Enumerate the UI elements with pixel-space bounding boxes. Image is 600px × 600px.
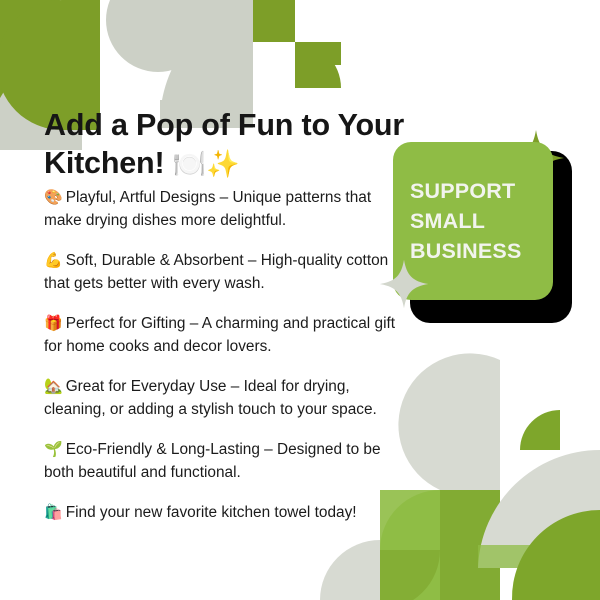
gray-circle-top-center: [106, 0, 210, 72]
green-tint-strip: [478, 545, 600, 568]
gray-big-disc-right: [478, 450, 600, 568]
list-item: 💪Soft, Durable & Absorbent – High-qualit…: [44, 250, 410, 295]
green-curve-mid: [380, 550, 440, 600]
gray-disc-right-upper: [398, 353, 500, 490]
list-item-text: Eco-Friendly & Long-Lasting – Designed t…: [44, 441, 381, 481]
artist-palette-emoji-icon: 🎨: [44, 189, 63, 206]
list-item-text: Perfect for Gifting – A charming and pra…: [44, 315, 395, 355]
green-block-lower: [295, 42, 341, 65]
shopping-bags-emoji-icon: 🛍️: [44, 504, 63, 521]
badge-line-1: SUPPORT: [410, 176, 553, 206]
list-item-text: Great for Everyday Use – Ideal for dryin…: [44, 378, 377, 418]
list-item-text: Playful, Artful Designs – Unique pattern…: [44, 189, 371, 229]
green-nub-right: [520, 410, 560, 450]
list-item: 🎨Playful, Artful Designs – Unique patter…: [44, 187, 410, 232]
green-column-right: [440, 490, 500, 600]
seedling-emoji-icon: 🌱: [44, 441, 63, 458]
call-to-action-text: Find your new favorite kitchen towel tod…: [66, 504, 357, 521]
list-item: 🌱Eco-Friendly & Long-Lasting – Designed …: [44, 439, 410, 484]
green-square-upper: [253, 0, 295, 42]
sparkle-bottom-icon: [378, 258, 430, 310]
list-item-text: Soft, Durable & Absorbent – High-quality…: [44, 252, 388, 292]
green-disc-bottom-right: [512, 510, 600, 600]
gray-small-disc-bottom-b: [320, 540, 380, 600]
wrapped-gift-emoji-icon: 🎁: [44, 315, 63, 332]
gray-small-disc-bottom: [320, 568, 380, 600]
badge-line-2: SMALL: [410, 206, 553, 236]
poster-canvas: Add a Pop of Fun to Your Kitchen! 🍽️✨ 🎨P…: [0, 0, 600, 600]
headline-line-1: Add a Pop of Fun to Your: [44, 108, 404, 142]
list-item: 🏡Great for Everyday Use – Ideal for dryi…: [44, 376, 410, 421]
house-with-garden-emoji-icon: 🏡: [44, 378, 63, 395]
flexed-biceps-emoji-icon: 💪: [44, 252, 63, 269]
green-quarter-lower-b: [295, 42, 341, 88]
call-to-action-item: 🛍️Find your new favorite kitchen towel t…: [44, 502, 410, 525]
feature-list: 🎨Playful, Artful Designs – Unique patter…: [44, 172, 410, 525]
gray-disc-right-upper-b: [440, 360, 500, 490]
green-quarter-upper: [253, 0, 295, 42]
green-quarter-lower: [295, 42, 341, 88]
list-item: 🎁Perfect for Gifting – A charming and pr…: [44, 313, 410, 358]
green-triangle-upper-left: [0, 0, 60, 98]
support-small-business-badge: SUPPORT SMALL BUSINESS: [383, 128, 593, 328]
badge-line-3: BUSINESS: [410, 236, 553, 266]
